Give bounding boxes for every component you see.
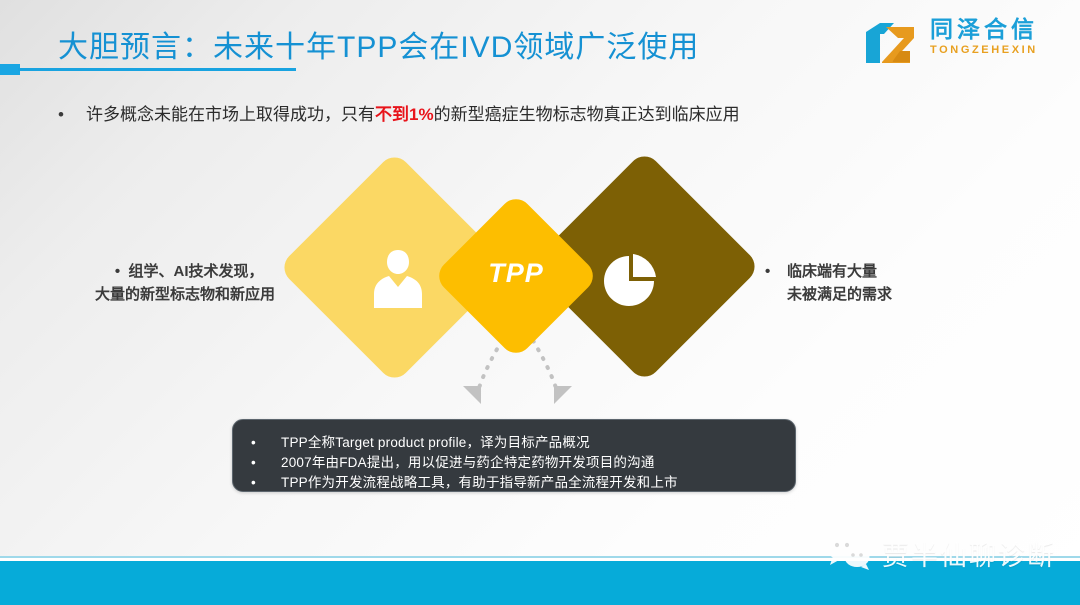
caption-right-line1: •临床端有大量 <box>765 260 985 283</box>
logo-name-cn: 同泽合信 <box>930 16 1038 43</box>
lead-bullet-line: •许多概念未能在市场上取得成功，只有不到1%的新型癌症生物标志物真正达到临床应用 <box>58 102 958 128</box>
title-accent-block <box>0 64 20 75</box>
note-item-text-3: TPP作为开发流程战略工具，有助于指导新产品全流程开发和上市 <box>281 475 678 490</box>
logo-text: 同泽合信 TONGZEHEXIN <box>930 16 1038 57</box>
note-item: •TPP作为开发流程战略工具，有助于指导新产品全流程开发和上市 <box>251 471 678 491</box>
bullet-symbol-left: • <box>106 260 128 283</box>
pie-chart-icon <box>600 252 658 310</box>
caption-left: •组学、AI技术发现， 大量的新型标志物和新应用 <box>60 260 310 306</box>
tpp-label: TPP <box>457 258 575 289</box>
company-logo: 同泽合信 TONGZEHEXIN <box>862 14 1058 72</box>
lead-text-before: 许多概念未能在市场上取得成功，只有 <box>86 105 375 124</box>
note-item-text-2: 2007年由FDA提出，用以促进与药企特定药物开发项目的沟通 <box>281 455 655 470</box>
page-title: 大胆预言：未来十年TPP会在IVD领域广泛使用 <box>58 22 699 66</box>
note-item: •2007年由FDA提出，用以促进与药企特定药物开发项目的沟通 <box>251 451 655 471</box>
wechat-icon <box>826 536 872 570</box>
note-bullet-3: • <box>251 475 281 490</box>
logo-mark-icon <box>862 18 924 68</box>
note-box: •TPP全称Target product profile，译为目标产品概况 •2… <box>232 419 796 492</box>
note-item: •TPP全称Target product profile，译为目标产品概况 <box>251 431 590 451</box>
bullet-symbol: • <box>58 102 86 128</box>
logo-name-en: TONGZEHEXIN <box>930 43 1038 57</box>
caption-left-line1: •组学、AI技术发现， <box>60 260 310 283</box>
note-bullet-2: • <box>251 455 281 470</box>
slide: 大胆预言：未来十年TPP会在IVD领域广泛使用 同泽合信 TONGZEHEXIN… <box>0 0 1080 605</box>
caption-left-line2: 大量的新型标志物和新应用 <box>60 283 310 306</box>
note-item-text-1: TPP全称Target product profile，译为目标产品概况 <box>281 435 590 450</box>
lead-text-after: 的新型癌症生物标志物真正达到临床应用 <box>434 105 740 124</box>
watermark-text: 贾半仙聊诊断 <box>882 534 1056 573</box>
caption-right-line2: 未被满足的需求 <box>765 283 985 306</box>
caption-right: •临床端有大量 未被满足的需求 <box>765 260 985 306</box>
person-icon <box>372 248 424 310</box>
lead-highlight: 不到1% <box>375 105 434 124</box>
bullet-symbol-right: • <box>765 260 787 283</box>
watermark: 贾半仙聊诊断 <box>826 532 1056 574</box>
note-bullet-1: • <box>251 435 281 450</box>
title-underline <box>18 68 296 71</box>
